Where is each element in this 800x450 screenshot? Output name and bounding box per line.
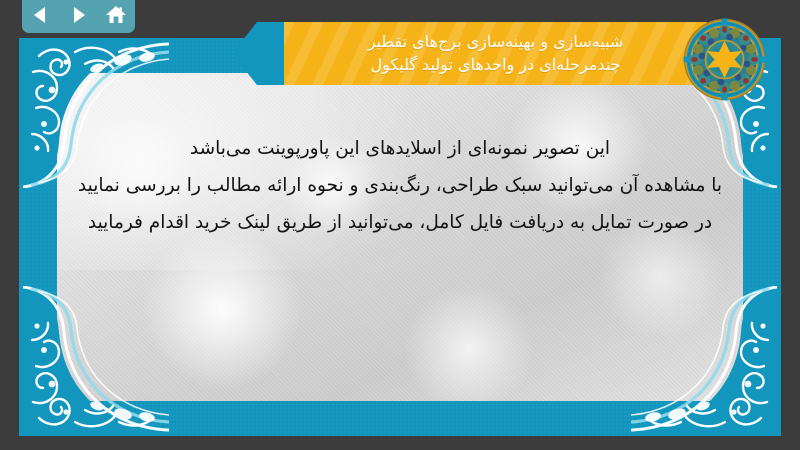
slide-navigation-bar[interactable] (22, 0, 135, 33)
home-button[interactable] (103, 4, 129, 26)
slide-title-banner: شبیه‌سازی و بهینه‌سازی برج‌های تقطیر چند… (232, 22, 707, 85)
banner-arrow-shape (232, 22, 284, 85)
forward-button[interactable] (65, 4, 91, 26)
persian-medallion-ornament (683, 18, 766, 101)
slide-viewer: این تصویر نمونه‌ای از اسلایدهای این پاور… (0, 0, 800, 450)
title-line-1: شبیه‌سازی و بهینه‌سازی برج‌های تقطیر (368, 31, 624, 54)
body-line-1: این تصویر نمونه‌ای از اسلایدهای این پاور… (60, 130, 740, 167)
banner-title-body: شبیه‌سازی و بهینه‌سازی برج‌های تقطیر چند… (284, 22, 707, 85)
body-line-2: با مشاهده آن می‌توانید سبک طراحی، رنگ‌بن… (60, 167, 740, 204)
home-icon (105, 5, 127, 25)
triangle-left-icon (34, 7, 45, 23)
back-button[interactable] (28, 4, 54, 26)
title-line-2: چندمرحله‌ای در واحدهای تولید گلیکول (370, 54, 620, 77)
slide-body-text: این تصویر نمونه‌ای از اسلایدهای این پاور… (60, 130, 740, 241)
body-line-3: در صورت تمایل به دریافت فایل کامل، می‌تو… (60, 204, 740, 241)
triangle-right-icon (74, 7, 85, 23)
